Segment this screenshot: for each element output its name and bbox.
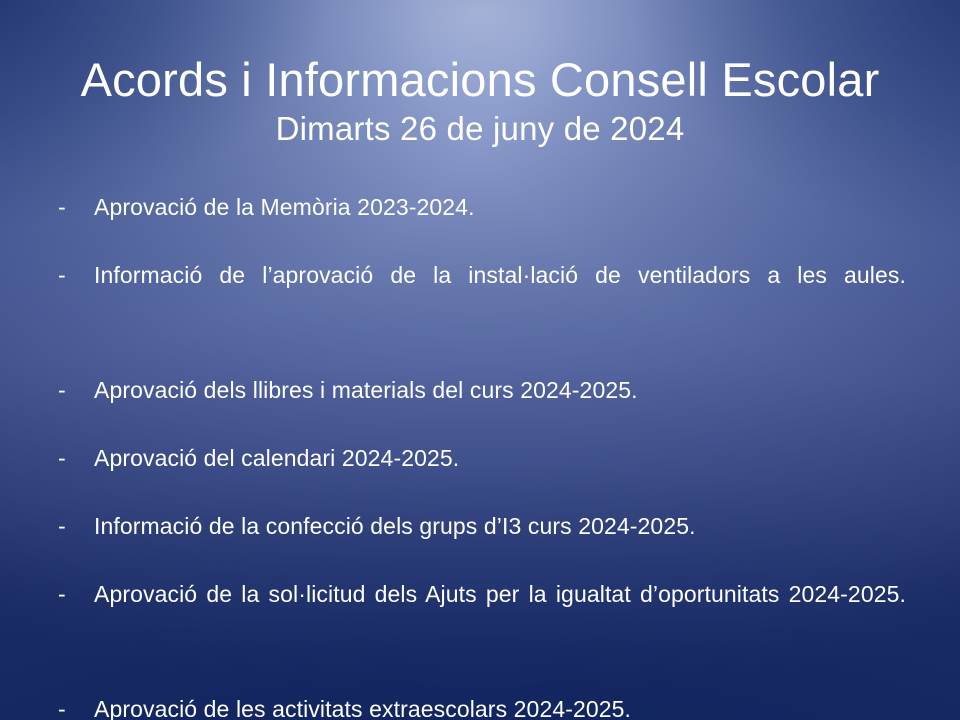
bullet-dash-marker: -: [58, 367, 80, 414]
bullet-item: - Aprovació de les activitats extraescol…: [54, 686, 906, 720]
bullet-dash-marker: -: [58, 252, 80, 299]
bullet-item-text: Aprovació del calendari 2024-2025.: [94, 435, 906, 482]
bullet-item-text: Informació de la confecció dels grups d’…: [94, 503, 906, 550]
bullet-dash-marker: -: [58, 184, 80, 231]
slide-subtitle: Dimarts 26 de juny de 2024: [0, 109, 960, 149]
bullet-item-text: Informació de l’aprovació de la instal·l…: [94, 252, 906, 346]
bullet-item: - Aprovació dels llibres i materials del…: [54, 367, 906, 414]
slide-content: Acords i Informacions Consell Escolar Di…: [0, 0, 960, 720]
title-block: Acords i Informacions Consell Escolar Di…: [0, 52, 960, 149]
bullet-item-text: Aprovació de les activitats extraescolar…: [94, 686, 906, 720]
bullet-dash-marker: -: [58, 435, 80, 482]
bullet-item: - Aprovació de la Memòria 2023-2024.: [54, 184, 906, 231]
bullet-item-text: Aprovació dels llibres i materials del c…: [94, 367, 906, 414]
presentation-slide: Acords i Informacions Consell Escolar Di…: [0, 0, 960, 720]
bullet-item: - Informació de la confecció dels grups …: [54, 503, 906, 550]
bullet-item: - Informació de l’aprovació de la instal…: [54, 252, 906, 346]
bullet-item: - Aprovació de la sol·licitud dels Ajuts…: [54, 571, 906, 665]
bullet-item: - Aprovació del calendari 2024-2025.: [54, 435, 906, 482]
bullet-item-text: Aprovació de la sol·licitud dels Ajuts p…: [94, 571, 906, 665]
bullet-dash-marker: -: [58, 503, 80, 550]
bullet-dash-marker: -: [58, 571, 80, 618]
bullet-dash-marker: -: [58, 686, 80, 720]
bullet-item-text: Aprovació de la Memòria 2023-2024.: [94, 184, 906, 231]
slide-title: Acords i Informacions Consell Escolar: [0, 52, 960, 108]
agenda-bullet-list: - Aprovació de la Memòria 2023-2024. - I…: [54, 184, 906, 720]
